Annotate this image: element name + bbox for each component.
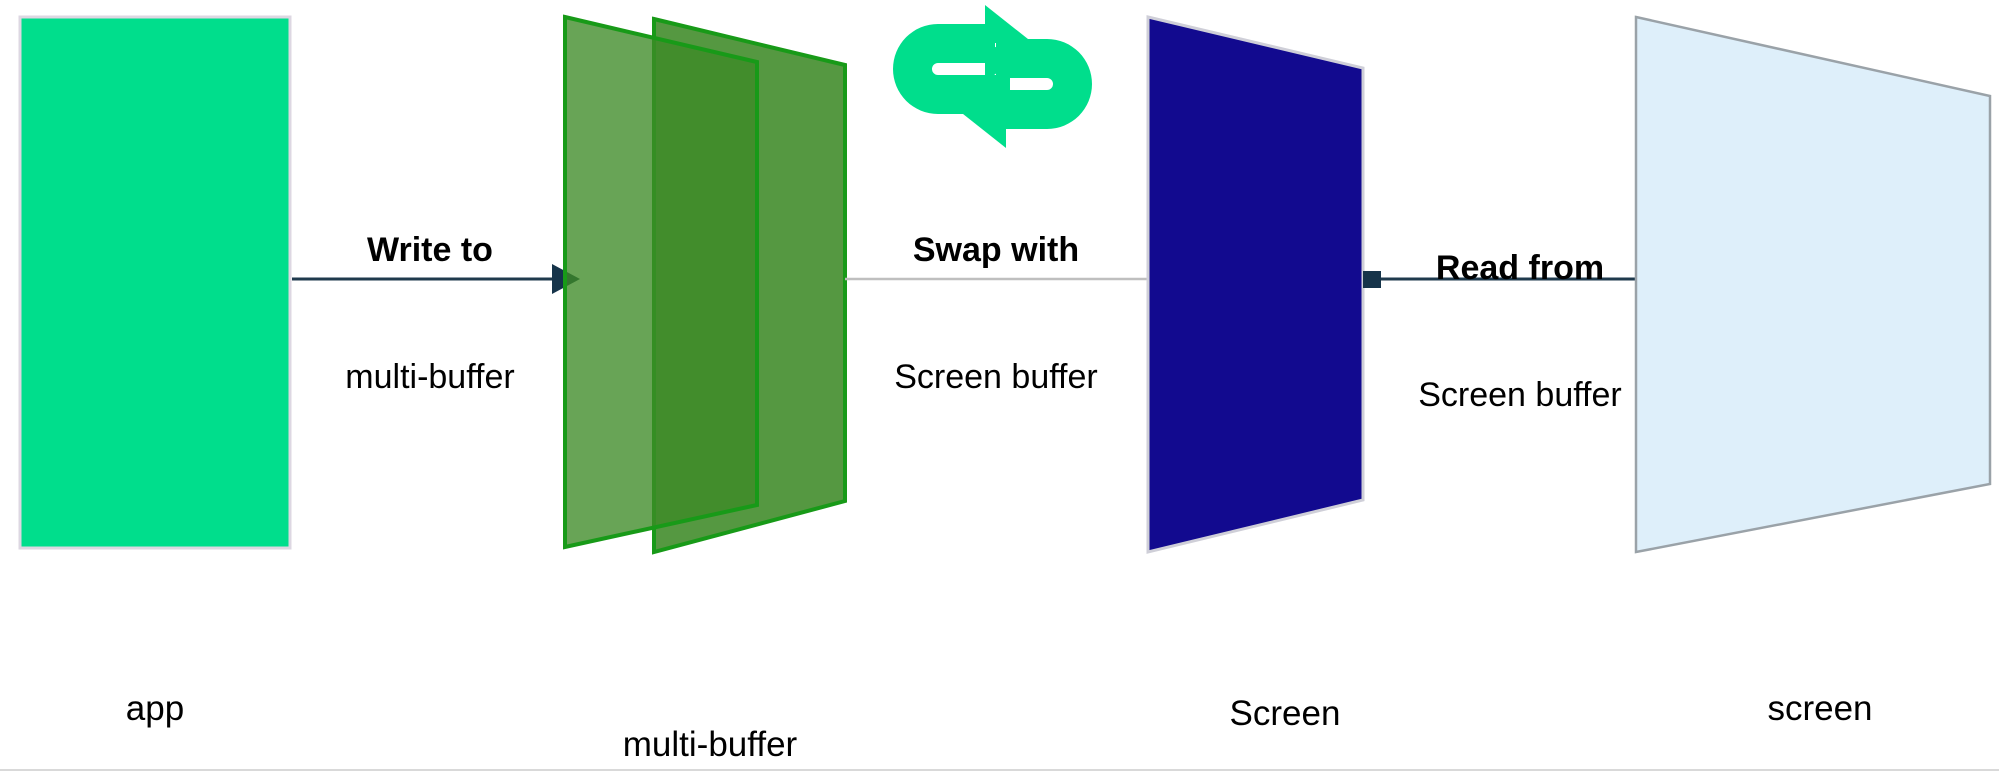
edge-label-swap-plain: Screen buffer [846, 356, 1146, 398]
edge-label-read: Read from Screen buffer [1355, 163, 1685, 500]
edge-label-swap: Swap with Screen buffer [846, 145, 1146, 482]
edge-label-swap-bold: Swap with [846, 229, 1146, 271]
node-label-app-text: app [55, 687, 255, 730]
diagram-canvas: Write to multi-buffer Swap with Screen b… [0, 0, 1999, 771]
node-app-shape[interactable] [20, 17, 290, 548]
edge-label-write: Write to multi-buffer [280, 145, 580, 482]
node-label-screen-buffer-line1: Screen [1095, 692, 1475, 735]
node-label-multi-buffer: multi-buffer (memory) [545, 636, 875, 771]
edge-label-read-bold: Read from [1355, 247, 1685, 289]
swap-cycle-icon [893, 5, 1092, 148]
node-label-app: app [55, 600, 255, 771]
node-screen-buffer-shape[interactable] [1148, 17, 1363, 552]
edge-label-write-bold: Write to [280, 229, 580, 271]
node-multi-buffer-sheet-front[interactable] [565, 17, 757, 547]
edge-label-read-plain: Screen buffer [1355, 374, 1685, 416]
node-screen-shape[interactable] [1636, 17, 1990, 552]
node-label-screen-text: screen [1660, 687, 1980, 730]
node-label-multi-buffer-line1: multi-buffer [545, 723, 875, 766]
node-label-screen: screen [1660, 600, 1980, 771]
node-label-screen-buffer: Screen buffer (memory) [1095, 605, 1475, 771]
edge-label-write-plain: multi-buffer [280, 356, 580, 398]
